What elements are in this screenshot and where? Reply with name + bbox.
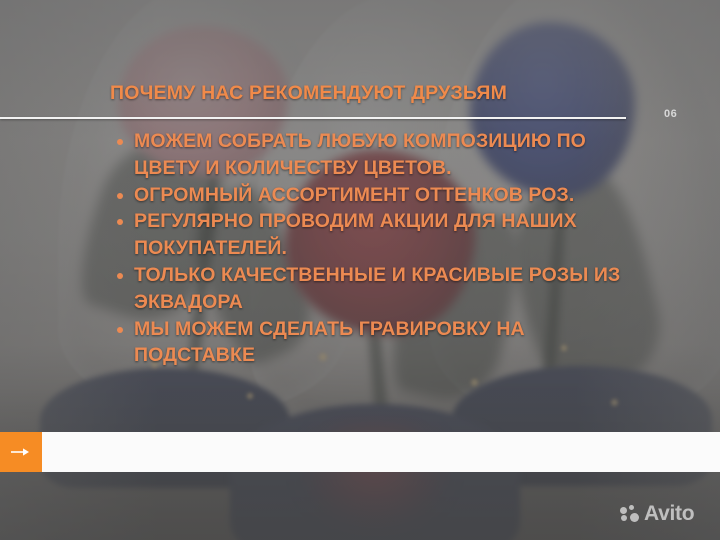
list-item: МОЖЕМ СОБРАТЬ ЛЮБУЮ КОМПОЗИЦИЮ ПО ЦВЕТУ … bbox=[112, 128, 640, 182]
list-item: ОГРОМНЫЙ АССОРТИМЕНТ ОТТЕНКОВ РОЗ. bbox=[112, 182, 640, 209]
arrow-right-icon bbox=[11, 447, 31, 457]
bullet-dot-icon bbox=[117, 219, 123, 225]
list-item-text: ОГРОМНЫЙ АССОРТИМЕНТ ОТТЕНКОВ РОЗ. bbox=[134, 184, 574, 206]
next-slide-button[interactable] bbox=[0, 432, 42, 472]
avito-wordmark: Avito bbox=[644, 503, 694, 524]
list-item-text: ТОЛЬКО КАЧЕСТВЕННЫЕ И КРАСИВЫЕ РОЗЫ ИЗ Э… bbox=[134, 264, 620, 313]
list-item: ТОЛЬКО КАЧЕСТВЕННЫЕ И КРАСИВЫЕ РОЗЫ ИЗ Э… bbox=[112, 262, 640, 316]
avito-watermark: Avito bbox=[620, 503, 694, 524]
bullet-dot-icon bbox=[117, 273, 123, 279]
list-item: РЕГУЛЯРНО ПРОВОДИМ АКЦИИ ДЛЯ НАШИХ ПОКУП… bbox=[112, 208, 640, 262]
list-item: МЫ МОЖЕМ СДЕЛАТЬ ГРАВИРОВКУ НА ПОДСТАВКЕ bbox=[112, 316, 640, 370]
title-divider bbox=[0, 117, 626, 119]
bullet-dot-icon bbox=[117, 139, 123, 145]
list-item-text: МОЖЕМ СОБРАТЬ ЛЮБУЮ КОМПОЗИЦИЮ ПО ЦВЕТУ … bbox=[134, 130, 586, 179]
list-item-text: МЫ МОЖЕМ СДЕЛАТЬ ГРАВИРОВКУ НА ПОДСТАВКЕ bbox=[134, 318, 525, 367]
page-title: ПОЧЕМУ НАС РЕКОМЕНДУЮТ ДРУЗЬЯМ bbox=[110, 82, 507, 105]
bullet-dot-icon bbox=[117, 327, 123, 333]
list-item-text: РЕГУЛЯРНО ПРОВОДИМ АКЦИИ ДЛЯ НАШИХ ПОКУП… bbox=[134, 210, 577, 259]
footer-bar bbox=[42, 432, 720, 472]
benefits-list: МОЖЕМ СОБРАТЬ ЛЮБУЮ КОМПОЗИЦИЮ ПО ЦВЕТУ … bbox=[112, 128, 640, 369]
bullet-dot-icon bbox=[117, 193, 123, 199]
page-number: 06 bbox=[664, 108, 677, 120]
avito-dots-icon bbox=[620, 505, 640, 523]
presentation-slide: ПОЧЕМУ НАС РЕКОМЕНДУЮТ ДРУЗЬЯМ 06 МОЖЕМ … bbox=[0, 0, 720, 540]
